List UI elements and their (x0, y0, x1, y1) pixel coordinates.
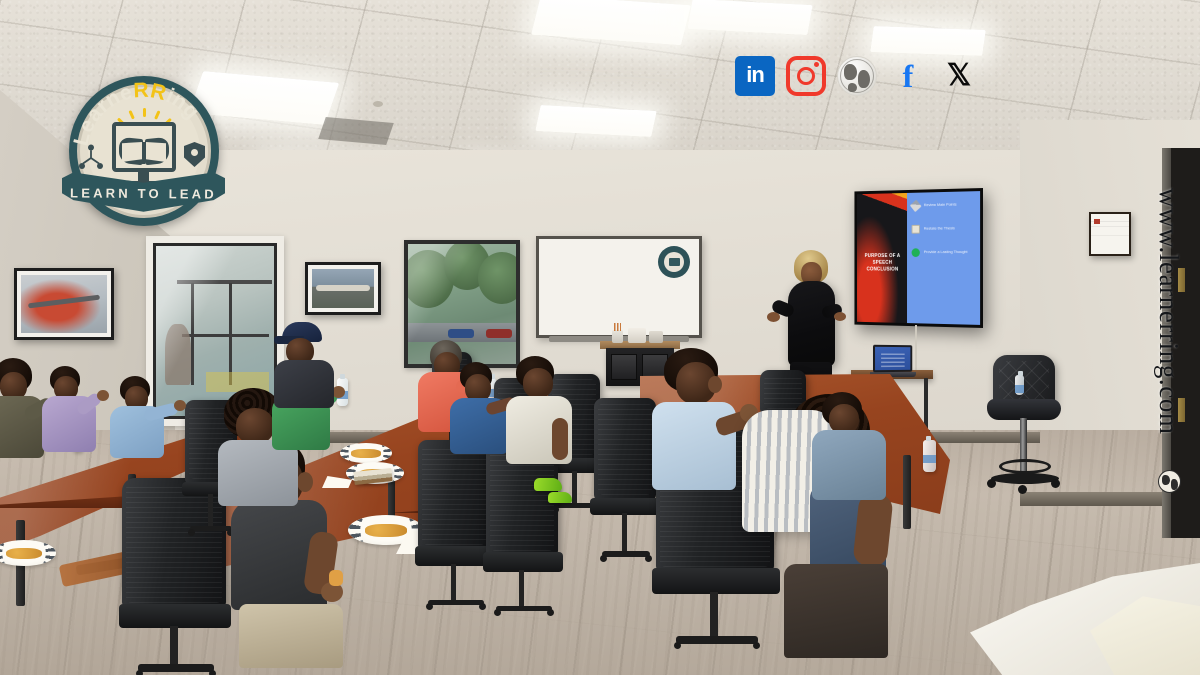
student (40, 366, 110, 466)
slide-bullets-panel: Review Main Points Restate the Thesis Pr… (907, 191, 980, 325)
tv-screen: PURPOSE OF A SPEECH CONCLUSION Review Ma… (857, 191, 980, 325)
chair-seat (483, 552, 563, 572)
stool-seat (987, 399, 1061, 420)
green-dot-icon (912, 248, 920, 257)
chair-post (519, 570, 524, 608)
snack-food (365, 524, 408, 537)
book-page-right (146, 142, 166, 162)
laptop-screen-content (881, 351, 905, 367)
supply-bin (649, 331, 663, 343)
pencils-icon (614, 323, 621, 331)
seal-monitor-icon (669, 258, 680, 266)
slide-title: PURPOSE OF A SPEECH CONCLUSION (862, 253, 902, 274)
student-hand (97, 390, 109, 401)
chair-post (622, 513, 627, 553)
office-chair (594, 398, 656, 578)
laptop[interactable] (873, 345, 916, 377)
chair-base (496, 606, 552, 611)
logo-tagline: LEARN TO LEAD (62, 185, 225, 201)
shield-dot (191, 149, 198, 156)
book-spine (142, 142, 145, 164)
photo-mat (17, 271, 111, 337)
adult-attendee (270, 322, 340, 412)
classroom-photo: PURPOSE OF A SPEECH CONCLUSION Review Ma… (0, 0, 1200, 675)
laptop-screen (873, 345, 912, 373)
facebook-glyph: f (903, 60, 914, 92)
student-ear (708, 376, 722, 393)
stool-footring (999, 459, 1051, 474)
instagram-icon[interactable] (786, 56, 826, 96)
helicopter-photo (21, 275, 107, 333)
snack-food (351, 449, 380, 458)
pencil-cup (612, 330, 623, 343)
osprey-photo (312, 269, 374, 308)
presenter-right-hand (834, 312, 846, 321)
student (112, 376, 184, 472)
ceiling-light-panel (870, 26, 986, 56)
chair-post (451, 564, 456, 602)
slide-bullet: Restate the Thesis (912, 224, 975, 234)
presenter-left-hand (767, 312, 780, 322)
water-bottle (1015, 375, 1024, 395)
x-glyph: 𝕏 (947, 61, 971, 91)
chair-seat (119, 604, 231, 628)
bullet-text: Review Main Points (924, 203, 957, 208)
globe-landmass (844, 64, 857, 80)
chair-base (602, 551, 650, 557)
slide-title-line-3: CONCLUSION (862, 267, 902, 274)
stool-base (991, 473, 1059, 484)
whiteboard-logo-seal (658, 246, 690, 278)
chair-post (170, 626, 178, 668)
table-leg (903, 455, 911, 529)
globe-landmass (848, 83, 857, 92)
adult-torso (274, 360, 334, 408)
student-legs (784, 564, 888, 658)
framed-photo-helicopter (14, 268, 114, 340)
slide-title-line-1: PURPOSE OF A (862, 253, 902, 260)
student-hand (174, 400, 186, 411)
chair-base (428, 600, 484, 605)
water-bottle (923, 440, 936, 472)
certificate-document (1091, 214, 1129, 254)
x-twitter-icon[interactable]: 𝕏 (939, 56, 979, 96)
drafting-stool (985, 355, 1063, 505)
instagram-lens (797, 67, 815, 85)
social-icon-bar: in f 𝕏 (735, 56, 979, 96)
student-head (523, 368, 553, 398)
photo-mat (308, 265, 378, 312)
bullet-text: Provide a Lasting Thought (924, 250, 968, 255)
slide-bullet: Review Main Points (912, 200, 975, 210)
presenter-torso (788, 281, 835, 367)
bullet-text: Restate the Thesis (924, 226, 955, 231)
chair-post (710, 592, 718, 640)
smoke-detector-icon (373, 101, 383, 107)
linkedin-glyph: in (746, 64, 764, 86)
student-shorts (239, 604, 343, 668)
tissue-box (628, 328, 646, 343)
student (506, 356, 582, 486)
seal-inner (664, 252, 684, 272)
credenza-cubby (611, 354, 637, 380)
wall-mounted-tv: PURPOSE OF A SPEECH CONCLUSION Review Ma… (854, 188, 983, 328)
framed-certificate (1089, 212, 1131, 256)
chair-base (138, 664, 214, 672)
snack-food (6, 548, 42, 559)
document-icon (912, 225, 920, 234)
globe-landmass (858, 70, 870, 88)
network-node-icon (78, 144, 104, 170)
student-torso (652, 402, 736, 490)
globe-icon (1158, 470, 1181, 493)
stool-caster (987, 479, 996, 488)
learnerring-logo: LearneRRing (62, 76, 225, 231)
sun-ray-icon (143, 108, 146, 117)
book-page-left (122, 142, 142, 162)
ceiling-light-panel (687, 0, 812, 35)
stool-caster (1051, 479, 1060, 488)
chair-back (594, 398, 656, 500)
globe-website-icon[interactable] (837, 56, 877, 96)
snack-held (329, 570, 343, 586)
linkedin-icon[interactable]: in (735, 56, 775, 96)
student (812, 392, 902, 522)
globe-landmass (1171, 479, 1178, 490)
pencil-icon (910, 200, 922, 212)
website-url[interactable]: www.learnerring.com (1153, 188, 1184, 435)
facebook-icon[interactable]: f (888, 56, 928, 96)
framed-photo-osprey (305, 262, 381, 315)
globe-landmass (1162, 475, 1170, 485)
slide-bullet: Provide a Lasting Thought (912, 248, 975, 257)
student-arm (552, 418, 568, 460)
logo-banner: LEARN TO LEAD (62, 170, 225, 228)
student-torso (812, 430, 886, 500)
stool-caster (1018, 485, 1027, 494)
sneaker (548, 492, 572, 503)
chair-post (208, 494, 213, 528)
instagram-dot (814, 62, 819, 67)
student-head (236, 408, 274, 444)
slide-title-panel: PURPOSE OF A SPEECH CONCLUSION (857, 193, 907, 323)
